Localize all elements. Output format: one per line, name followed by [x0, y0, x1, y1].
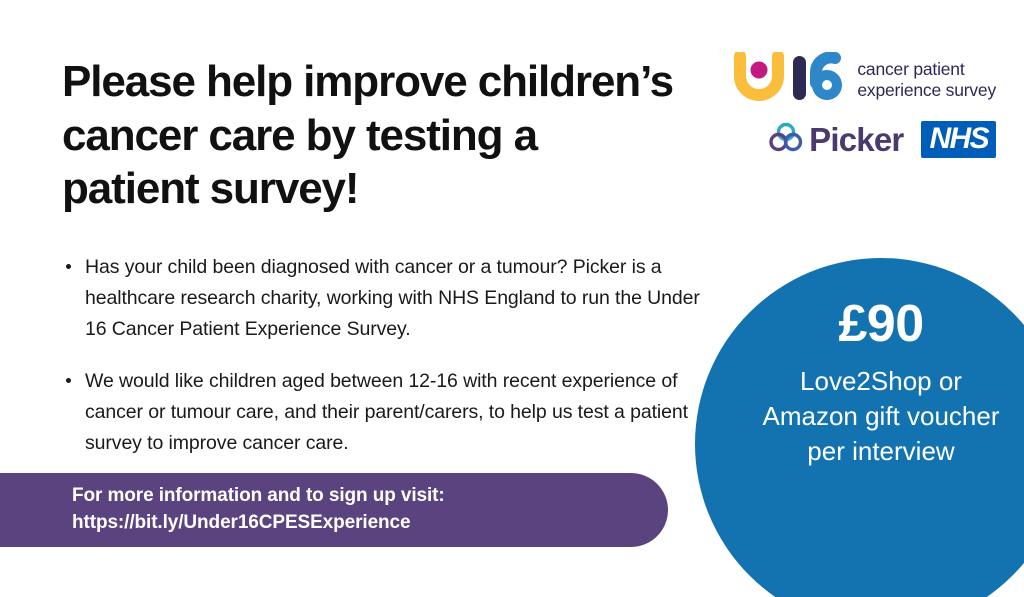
cpes-wordmark-line2: experience survey: [857, 80, 996, 100]
list-item: We would like children aged between 12-1…: [62, 366, 717, 458]
picker-logo: Picker: [769, 121, 903, 158]
sixteen-numeral-icon: [791, 52, 847, 107]
cta-prompt-text: For more information and to sign up visi…: [72, 483, 668, 510]
page-title: Please help improve children’s cancer ca…: [62, 55, 682, 216]
cpes-logo: cancer patientexperience survey: [732, 52, 996, 107]
cpes-logo-mark: [732, 52, 847, 107]
reward-description: Love2Shop or Amazon gift voucher per int…: [751, 364, 1011, 469]
cpes-wordmark-line1: cancer patient: [857, 59, 964, 79]
picker-wordmark: Picker: [809, 123, 903, 156]
signup-cta-banner[interactable]: For more information and to sign up visi…: [0, 473, 668, 547]
cpes-wordmark: cancer patientexperience survey: [857, 59, 996, 100]
nhs-logo: NHS: [921, 121, 996, 158]
brand-row: Picker NHS: [769, 121, 996, 158]
picker-rings-icon: [769, 121, 803, 158]
logo-group: cancer patientexperience survey Picker N…: [732, 52, 996, 158]
promotional-poster: £90 Love2Shop or Amazon gift voucher per…: [0, 0, 1024, 597]
list-item: Has your child been diagnosed with cance…: [62, 252, 717, 344]
nhs-wordmark: NHS: [929, 124, 988, 154]
reward-circle: £90 Love2Shop or Amazon gift voucher per…: [695, 258, 1024, 597]
cta-signup-link[interactable]: https://bit.ly/Under16CPESExperience: [72, 510, 668, 537]
u-shape-icon: [732, 52, 786, 107]
reward-amount: £90: [736, 298, 1024, 350]
info-bullet-list: Has your child been diagnosed with cance…: [62, 252, 717, 459]
